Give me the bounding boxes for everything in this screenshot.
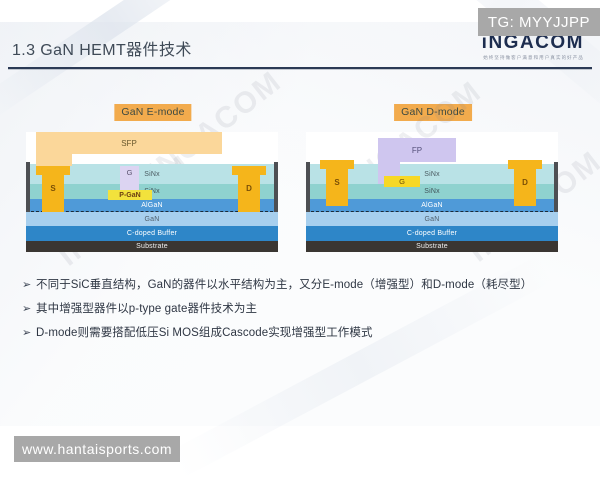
source-cap (36, 166, 70, 175)
field-plate-sfp-riser (36, 154, 72, 166)
title-divider (8, 67, 592, 69)
bullet-arrow-icon: ➢ (22, 278, 36, 292)
isolation-bar-right (554, 162, 558, 212)
diagram-gan-d-mode: GaN D-mode INGACOM INGACOM SiNx SiNx AlG… (298, 104, 568, 254)
isolation-bar-left (26, 162, 30, 212)
source-label: S (320, 178, 354, 187)
bullet-item: ➢ 不同于SiC垂直结构，GaN的器件以水平结构为主，又分E-mode（增强型）… (22, 278, 588, 293)
device-cross-section-d-mode: INGACOM INGACOM SiNx SiNx AlGaN GaN C-do… (306, 132, 558, 250)
company-logo: iNGACOM 始终坚持做客户满意和用户真实的好产品 (482, 32, 584, 61)
bullet-list: ➢ 不同于SiC垂直结构，GaN的器件以水平结构为主，又分E-mode（增强型）… (22, 278, 588, 350)
bullet-text: 其中增强型器件以p-type gate器件技术为主 (36, 302, 257, 317)
drain-cap (232, 166, 266, 175)
slide-header: 1.3 GaN HEMT器件技术 iNGACOM 始终坚持做客户满意和用户真实的… (0, 36, 600, 74)
isolation-bar-right (274, 162, 278, 212)
gate-electrode-d-mode: G (384, 176, 420, 187)
two-deg-channel-line (306, 211, 558, 212)
page-title: 1.3 GaN HEMT器件技术 (12, 36, 192, 60)
drain-stem (514, 169, 536, 206)
drain-label: D (232, 184, 266, 193)
drain-cap (508, 160, 542, 169)
gate-electrode-e-mode: G (120, 166, 139, 192)
layer-gan: GaN (306, 212, 558, 226)
telegram-watermark: TG: MYYJJPP (478, 8, 600, 36)
isolation-bar-left (306, 162, 310, 212)
layer-c-doped-buffer: C-doped Buffer (306, 226, 558, 241)
layer-substrate: Substrate (306, 241, 558, 252)
logo-tagline: 始终坚持做客户满意和用户真实的好产品 (482, 55, 584, 61)
bullet-arrow-icon: ➢ (22, 326, 36, 340)
source-label: S (36, 184, 70, 193)
field-plate-sfp: SFP (36, 132, 222, 154)
bullet-text: D-mode则需要搭配低压Si MOS组成Cascode实现增强型工作模式 (36, 326, 373, 341)
layer-c-doped-buffer: C-doped Buffer (26, 226, 278, 241)
source-cap (320, 160, 354, 169)
source-stem (326, 169, 348, 206)
diagram-title-e-mode: GaN E-mode (114, 104, 191, 121)
bullet-item: ➢ 其中增强型器件以p-type gate器件技术为主 (22, 302, 588, 317)
source-stem (42, 175, 64, 212)
drain-stem (238, 175, 260, 212)
p-gan-block: P-GaN (108, 190, 152, 200)
website-watermark: www.hantaisports.com (14, 436, 180, 462)
diagram-gan-e-mode: GaN E-mode INGACOM INGACOM SiNx SiNx AlG… (18, 104, 288, 254)
bullet-item: ➢ D-mode则需要搭配低压Si MOS组成Cascode实现增强型工作模式 (22, 326, 588, 341)
field-plate-fp: FP (378, 138, 456, 162)
bullet-text: 不同于SiC垂直结构，GaN的器件以水平结构为主，又分E-mode（增强型）和D… (36, 278, 532, 293)
bullet-arrow-icon: ➢ (22, 302, 36, 316)
drain-label: D (508, 178, 542, 187)
layer-substrate: Substrate (26, 241, 278, 252)
device-cross-section-e-mode: INGACOM INGACOM SiNx SiNx AlGaN GaN C-do… (26, 132, 278, 250)
diagram-title-d-mode: GaN D-mode (394, 104, 472, 121)
layer-gan: GaN (26, 212, 278, 226)
